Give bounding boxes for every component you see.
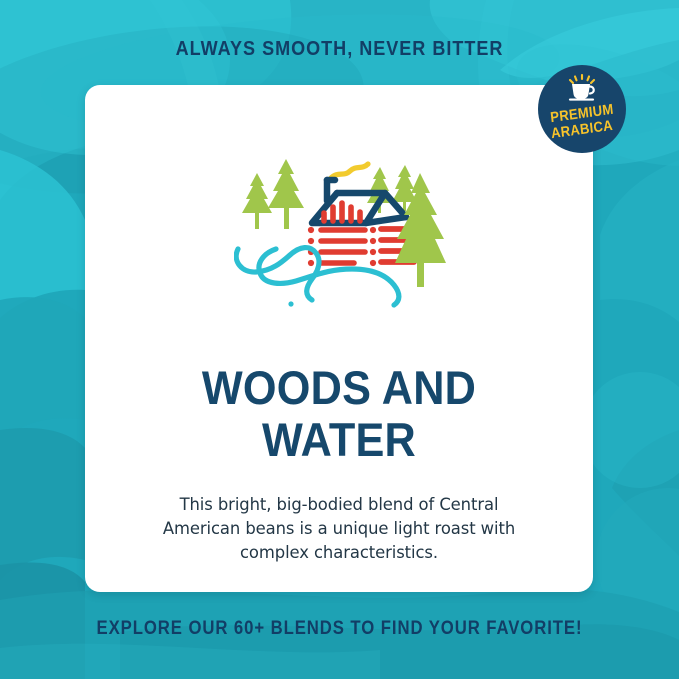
product-description: This bright, big-bodied blend of Central… (139, 493, 539, 565)
footer-text: EXPLORE OUR 60+ BLENDS TO FIND YOUR FAVO… (41, 618, 639, 640)
premium-arabica-badge: PREMIUM ARABICA (538, 65, 626, 153)
cabin-in-the-woods-illustration (234, 145, 446, 315)
chimney-smoke-icon (331, 164, 368, 178)
page-title: WOODS AND WATER (105, 362, 572, 466)
title-line-2: WATER (105, 414, 572, 466)
product-card: WOODS AND WATER This bright, big-bodied … (85, 85, 593, 592)
pine-trees-left (242, 159, 304, 229)
coffee-cup-icon (564, 74, 600, 101)
title-line-1: WOODS AND (105, 362, 572, 414)
headline-text: ALWAYS SMOOTH, NEVER BITTER (41, 37, 639, 61)
river-stream-icon (236, 248, 399, 307)
product-card-graphic: ALWAYS SMOOTH, NEVER BITTER (0, 0, 679, 679)
